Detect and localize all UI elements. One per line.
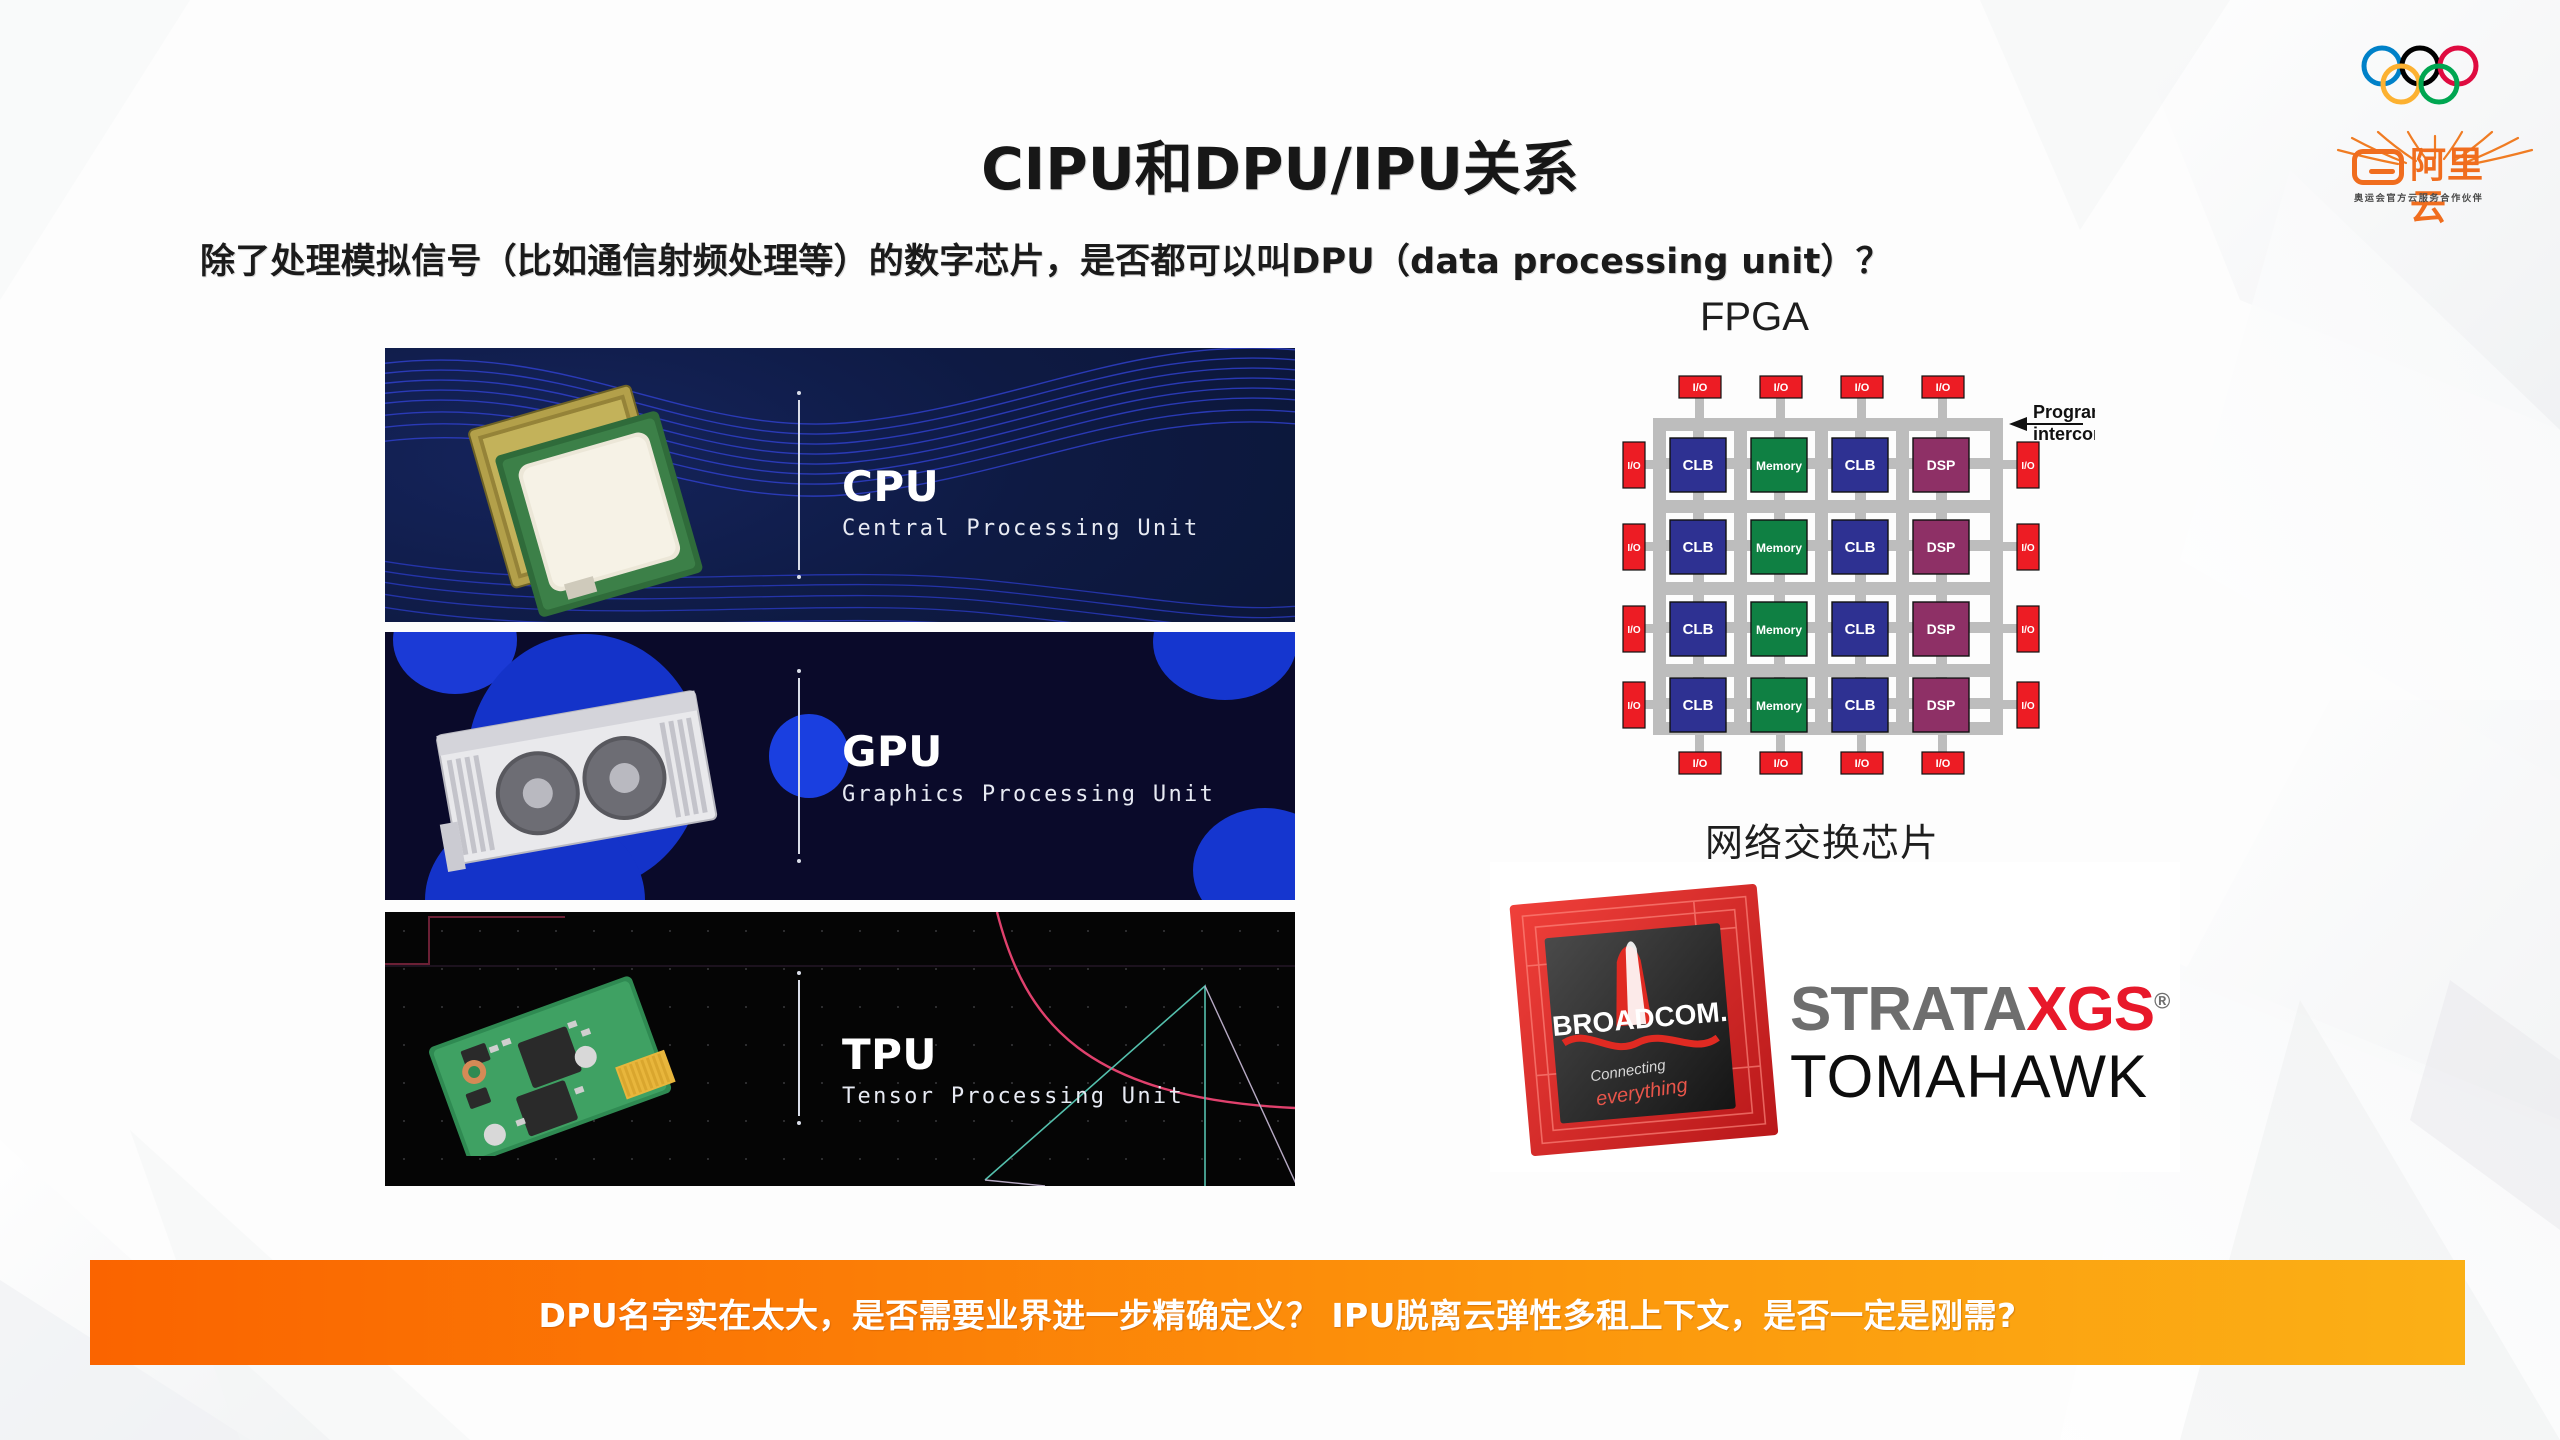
cpu-chip-photo [440, 376, 740, 622]
chip-panel-tpu: TPU Tensor Processing Unit [385, 912, 1295, 1186]
svg-text:CLB: CLB [1683, 457, 1714, 474]
svg-text:interconn: interconn [2033, 424, 2095, 444]
svg-text:I/O: I/O [2021, 701, 2035, 712]
gpu-graphics-card-photo [429, 690, 729, 880]
tomahawk-wordmark: TOMAHAWK [1790, 1042, 2148, 1111]
broadcom-chip-photo: BROADCOM. Connecting everything [1504, 876, 1784, 1166]
bottom-callout-text: DPU名字实在太大，是否需要业界进一步精确定义？ IPU脱离云弹性多租上下文，是… [538, 1289, 2016, 1337]
svg-text:CLB: CLB [1845, 621, 1876, 638]
svg-text:I/O: I/O [1627, 461, 1641, 472]
olympic-rings-icon [2358, 44, 2510, 106]
fpga-diagram-svg: I/OI/O I/OI/O I/OI/O I/OI/O [1613, 360, 2095, 790]
svg-text:I/O: I/O [1774, 758, 1789, 770]
svg-text:I/O: I/O [1936, 382, 1951, 394]
svg-text:I/O: I/O [1774, 382, 1789, 394]
switch-chip-card: BROADCOM. Connecting everything STRATAXG… [1490, 862, 2180, 1172]
strataxgs-part2: XGS [2026, 975, 2154, 1044]
svg-text:I/O: I/O [1693, 382, 1708, 394]
svg-text:CLB: CLB [1683, 621, 1714, 638]
svg-text:CLB: CLB [1845, 539, 1876, 556]
chip-acronym-gpu: GPU [842, 727, 943, 776]
chip-acronym-tpu: TPU [842, 1030, 937, 1079]
slide-subtitle: 除了处理模拟信号（比如通信射频处理等）的数字芯片，是否都可以叫DPU（data … [200, 233, 2400, 284]
svg-text:Memory: Memory [1756, 623, 1802, 637]
svg-text:I/O: I/O [2021, 461, 2035, 472]
cpu-label-divider [798, 400, 800, 570]
tpu-label-divider [798, 980, 800, 1116]
registered-mark-icon: ® [2154, 988, 2169, 1013]
switch-chip-title: 网络交换芯片 [1705, 812, 1939, 867]
svg-text:CLB: CLB [1683, 697, 1714, 714]
svg-text:I/O: I/O [1936, 758, 1951, 770]
page-title: CIPU和DPU/IPU关系 [0, 122, 2560, 206]
strataxgs-part1: STRATA [1790, 975, 2026, 1044]
svg-text:DSP: DSP [1927, 539, 1956, 555]
svg-text:I/O: I/O [2021, 543, 2035, 554]
svg-text:Memory: Memory [1756, 459, 1802, 473]
chip-panel-gpu: GPU Graphics Processing Unit [385, 632, 1295, 900]
bottom-callout-banner: DPU名字实在太大，是否需要业界进一步精确定义？ IPU脱离云弹性多租上下文，是… [90, 1260, 2465, 1365]
gpu-label-divider [798, 678, 800, 854]
svg-text:I/O: I/O [1855, 758, 1870, 770]
svg-text:CLB: CLB [1845, 457, 1876, 474]
svg-text:I/O: I/O [2021, 625, 2035, 636]
strataxgs-wordmark: STRATAXGS® [1790, 974, 2169, 1045]
svg-text:Memory: Memory [1756, 541, 1802, 555]
svg-text:Programm: Programm [2033, 402, 2095, 422]
chip-type-panels: CPU Central Processing Unit [385, 348, 1295, 1186]
svg-text:DSP: DSP [1927, 621, 1956, 637]
svg-text:Memory: Memory [1756, 699, 1802, 713]
svg-text:I/O: I/O [1855, 382, 1870, 394]
chip-panel-cpu: CPU Central Processing Unit [385, 348, 1295, 622]
chip-fullname-cpu: Central Processing Unit [842, 516, 1200, 541]
fpga-diagram: I/OI/O I/OI/O I/OI/O I/OI/O [1613, 360, 2095, 790]
fpga-title: FPGA [1700, 295, 1809, 340]
presentation-slide: 阿里云 奥运会官方云服务合作伙伴 CIPU和DPU/IPU关系 除了处理模拟信号… [0, 0, 2560, 1440]
svg-text:I/O: I/O [1627, 625, 1641, 636]
svg-text:DSP: DSP [1927, 457, 1956, 473]
svg-text:DSP: DSP [1927, 697, 1956, 713]
tpu-board-photo [415, 976, 695, 1156]
chip-fullname-gpu: Graphics Processing Unit [842, 782, 1215, 807]
svg-text:I/O: I/O [1693, 758, 1708, 770]
chip-acronym-cpu: CPU [842, 462, 939, 511]
svg-text:I/O: I/O [1627, 543, 1641, 554]
svg-text:CLB: CLB [1845, 697, 1876, 714]
svg-text:CLB: CLB [1683, 539, 1714, 556]
svg-text:I/O: I/O [1627, 701, 1641, 712]
chip-fullname-tpu: Tensor Processing Unit [842, 1084, 1184, 1109]
